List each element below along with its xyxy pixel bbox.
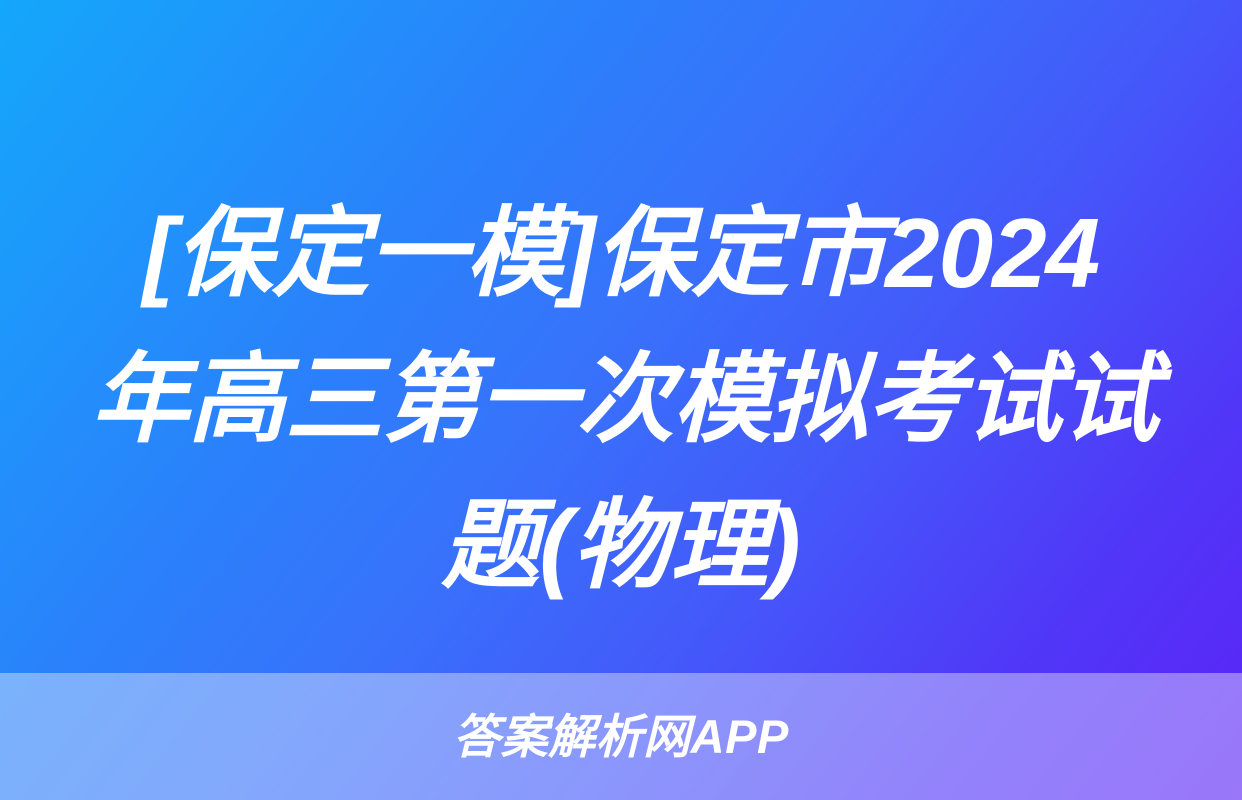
title-line-3: 题(物理) [91, 472, 1151, 618]
page-title: [保定一模]保定市2024 年高三第一次模拟考试试 题(物理) [91, 180, 1151, 618]
watermark-band: 答案解析网APP [0, 673, 1242, 800]
title-line-1: [保定一模]保定市2024 [91, 180, 1151, 326]
exam-title-poster: [保定一模]保定市2024 年高三第一次模拟考试试 题(物理) 答案解析网APP [0, 0, 1242, 800]
title-line-2: 年高三第一次模拟考试试 [91, 326, 1151, 472]
watermark-app-name: 答案解析网APP [453, 713, 789, 760]
